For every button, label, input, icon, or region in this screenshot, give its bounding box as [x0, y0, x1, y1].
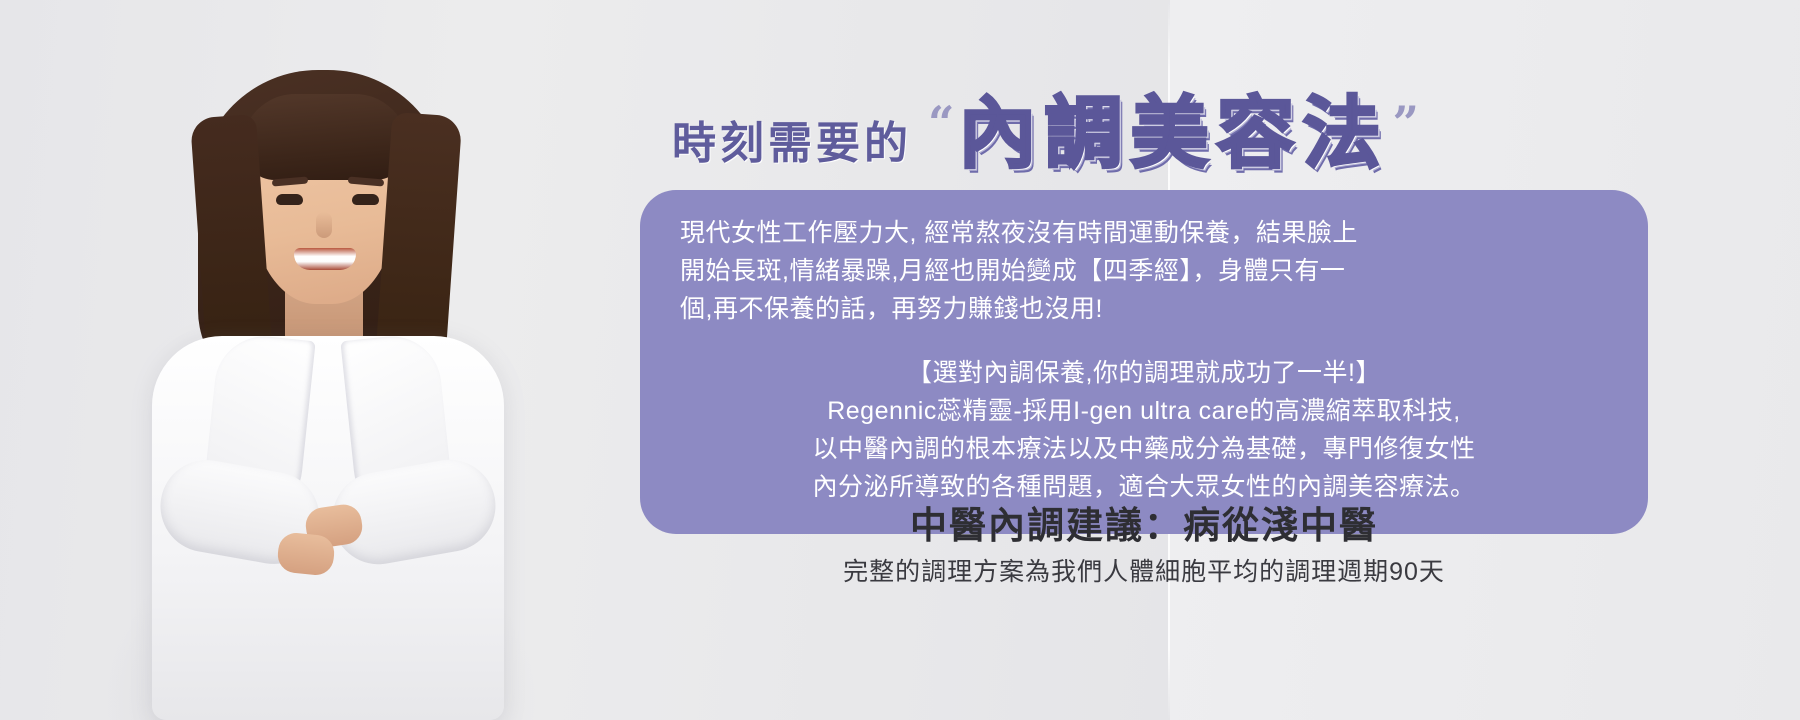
content-column: 時刻需要的 “ 內調美容法 ” 現代女性工作壓力大, 經常熬夜沒有時間運動保養，…: [640, 0, 1760, 720]
quote-open-mark: “: [928, 100, 954, 172]
paragraph-spacer: [674, 328, 1614, 354]
footer-subtext: 完整的調理方案為我們人體細胞平均的調理週期90天: [640, 552, 1648, 588]
paragraph-solution-line-3: 以中醫內調的根本療法以及中藥成分為基礎，專門修復女性: [674, 430, 1614, 468]
headline-big-text: 內調美容法: [958, 94, 1388, 172]
quote-close-mark: ”: [1392, 100, 1418, 172]
promo-banner: 時刻需要的 “ 內調美容法 ” 現代女性工作壓力大, 經常熬夜沒有時間運動保養，…: [0, 0, 1800, 720]
description-card: 現代女性工作壓力大, 經常熬夜沒有時間運動保養，結果臉上 開始長斑,情緒暴躁,月…: [640, 190, 1648, 534]
eye-right: [352, 194, 379, 205]
doctor-photo: [60, 36, 580, 720]
headline: 時刻需要的 “ 內調美容法 ”: [672, 62, 1702, 172]
paragraph-problem-line-2: 開始長斑,情緒暴躁,月經也開始變成【四季經】，身體只有一: [680, 252, 1608, 290]
mouth-smile: [294, 248, 356, 270]
paragraph-problem-line-1: 現代女性工作壓力大, 經常熬夜沒有時間運動保養，結果臉上: [680, 214, 1608, 252]
hand-lower: [276, 531, 336, 577]
paragraph-solution-line-2: Regennic蕊精靈-採用I-gen ultra care的高濃縮萃取科技,: [674, 392, 1614, 430]
paragraph-problem: 現代女性工作壓力大, 經常熬夜沒有時間運動保養，結果臉上 開始長斑,情緒暴躁,月…: [674, 214, 1614, 328]
eye-left: [276, 194, 303, 205]
paragraph-solution-line-1: 【選對內調保養,你的調理就成功了一半!】: [674, 354, 1614, 392]
footer-heading: 中醫內調建議：病從淺中醫: [640, 495, 1648, 549]
paragraph-solution: 【選對內調保養,你的調理就成功了一半!】 Regennic蕊精靈-採用I-gen…: [674, 354, 1614, 506]
nose: [316, 212, 332, 238]
paragraph-problem-line-3: 個,再不保養的話，再努力賺錢也沒用!: [680, 290, 1608, 328]
hair-fringe: [242, 94, 408, 180]
headline-small-text: 時刻需要的: [672, 122, 912, 172]
